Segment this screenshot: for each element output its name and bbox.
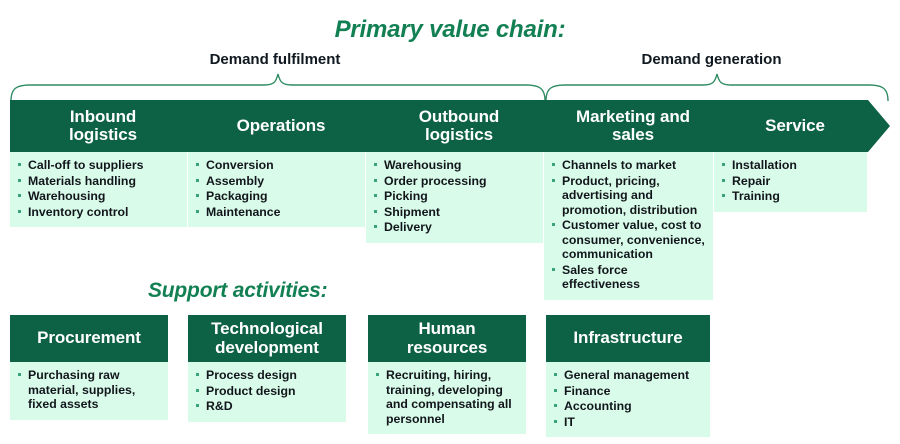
list-item: Installation	[721, 158, 861, 173]
list-item: Process design	[195, 368, 341, 383]
chain-stage-outbound-logistics[interactable]: Outbound logistics Warehousing Order pro…	[366, 100, 566, 243]
list-item: Warehousing	[373, 158, 537, 173]
list-item: Materials handling	[17, 174, 181, 189]
list-item: Product design	[195, 384, 341, 399]
support-stage-body: Recruiting, hiring, training, developing…	[368, 362, 526, 434]
support-stage-technological-development[interactable]: Technological development Process design…	[188, 315, 346, 422]
support-stage-header: Human resources	[368, 315, 526, 362]
support-stage-body: Process design Product design R&D	[188, 362, 346, 422]
list-item: Finance	[553, 384, 705, 399]
list-item: Delivery	[373, 220, 537, 235]
list-item: Packaging	[195, 189, 359, 204]
support-stage-body: General management Finance Accounting IT	[546, 362, 710, 437]
list-item: Repair	[721, 174, 861, 189]
support-stage-header: Technological development	[188, 315, 346, 362]
list-item: Purchasing raw material, supplies, fixed…	[17, 368, 163, 412]
list-item: Assembly	[195, 174, 359, 189]
support-stage-title: Human resources	[407, 320, 487, 357]
list-item: Shipment	[373, 205, 537, 220]
primary-value-chain-title: Primary value chain:	[0, 16, 900, 44]
brace-demand-generation-icon	[543, 72, 891, 102]
chain-stage-bullets: Warehousing Order processing Picking Shi…	[373, 158, 537, 235]
list-item: Inventory control	[17, 205, 181, 220]
list-item: Sales force effectiveness	[551, 263, 707, 292]
chain-stage-body: Call-off to suppliers Materials handling…	[10, 152, 187, 227]
list-item: General management	[553, 368, 705, 383]
list-item: R&D	[195, 399, 341, 414]
chain-stage-body: Warehousing Order processing Picking Shi…	[366, 152, 543, 243]
list-item: Conversion	[195, 158, 359, 173]
chain-stage-header: Service	[714, 100, 890, 152]
list-item: Recruiting, hiring, training, developing…	[375, 368, 521, 426]
support-stage-human-resources[interactable]: Human resources Recruiting, hiring, trai…	[368, 315, 526, 434]
chain-stage-service[interactable]: Service Installation Repair Training	[714, 100, 890, 212]
support-stage-bullets: Process design Product design R&D	[195, 368, 341, 414]
chain-stage-title: Outbound logistics	[419, 108, 499, 145]
support-stage-bullets: Recruiting, hiring, training, developing…	[375, 368, 521, 426]
list-item: Call-off to suppliers	[17, 158, 181, 173]
chain-stage-title: Inbound logistics	[69, 108, 137, 145]
list-item: Maintenance	[195, 205, 359, 220]
bracket-label-demand-fulfilment: Demand fulfilment	[200, 51, 350, 68]
list-item: Channels to market	[551, 158, 707, 173]
chain-stage-title: Marketing and sales	[576, 108, 690, 145]
support-activities-title: Support activities:	[148, 279, 327, 303]
chain-stage-title: Service	[765, 117, 825, 135]
support-stage-infrastructure[interactable]: Infrastructure General management Financ…	[546, 315, 710, 437]
chain-stage-header: Marketing and sales	[544, 100, 736, 152]
brace-demand-fulfilment-icon	[8, 72, 548, 102]
list-item: Picking	[373, 189, 537, 204]
list-item: Training	[721, 189, 861, 204]
list-item: Warehousing	[17, 189, 181, 204]
support-stage-title: Technological development	[211, 320, 323, 357]
chain-stage-header: Inbound logistics	[10, 100, 210, 152]
chain-stage-operations[interactable]: Operations Conversion Assembly Packaging…	[188, 100, 388, 227]
chain-stage-body: Conversion Assembly Packaging Maintenanc…	[188, 152, 365, 227]
support-stage-header: Procurement	[10, 315, 168, 362]
list-item: IT	[553, 415, 705, 430]
chain-stage-bullets: Call-off to suppliers Materials handling…	[17, 158, 181, 219]
chain-stage-bullets: Channels to market Product, pricing, adv…	[551, 158, 707, 292]
support-stage-bullets: Purchasing raw material, supplies, fixed…	[17, 368, 163, 412]
chain-stage-body: Installation Repair Training	[714, 152, 867, 212]
support-stage-bullets: General management Finance Accounting IT	[553, 368, 705, 429]
chain-stage-body: Channels to market Product, pricing, adv…	[544, 152, 713, 300]
chain-stage-title: Operations	[237, 117, 326, 135]
chain-stage-header: Outbound logistics	[366, 100, 566, 152]
support-stage-header: Infrastructure	[546, 315, 710, 362]
list-item: Product, pricing, advertising and promot…	[551, 174, 707, 218]
chain-stage-header: Operations	[188, 100, 388, 152]
support-stage-procurement[interactable]: Procurement Purchasing raw material, sup…	[10, 315, 168, 420]
value-chain-diagram: Primary value chain: Demand fulfilment D…	[0, 0, 900, 444]
chain-stage-bullets: Installation Repair Training	[721, 158, 861, 204]
support-stage-body: Purchasing raw material, supplies, fixed…	[10, 362, 168, 420]
list-item: Order processing	[373, 174, 537, 189]
list-item: Customer value, cost to consumer, conven…	[551, 218, 707, 262]
list-item: Accounting	[553, 399, 705, 414]
bracket-label-demand-generation: Demand generation	[634, 51, 789, 68]
support-stage-title: Procurement	[37, 329, 141, 347]
chain-stage-bullets: Conversion Assembly Packaging Maintenanc…	[195, 158, 359, 219]
support-stage-title: Infrastructure	[573, 329, 682, 347]
chain-stage-inbound-logistics[interactable]: Inbound logistics Call-off to suppliers …	[10, 100, 210, 227]
chain-stage-marketing-and-sales[interactable]: Marketing and sales Channels to market P…	[544, 100, 736, 300]
